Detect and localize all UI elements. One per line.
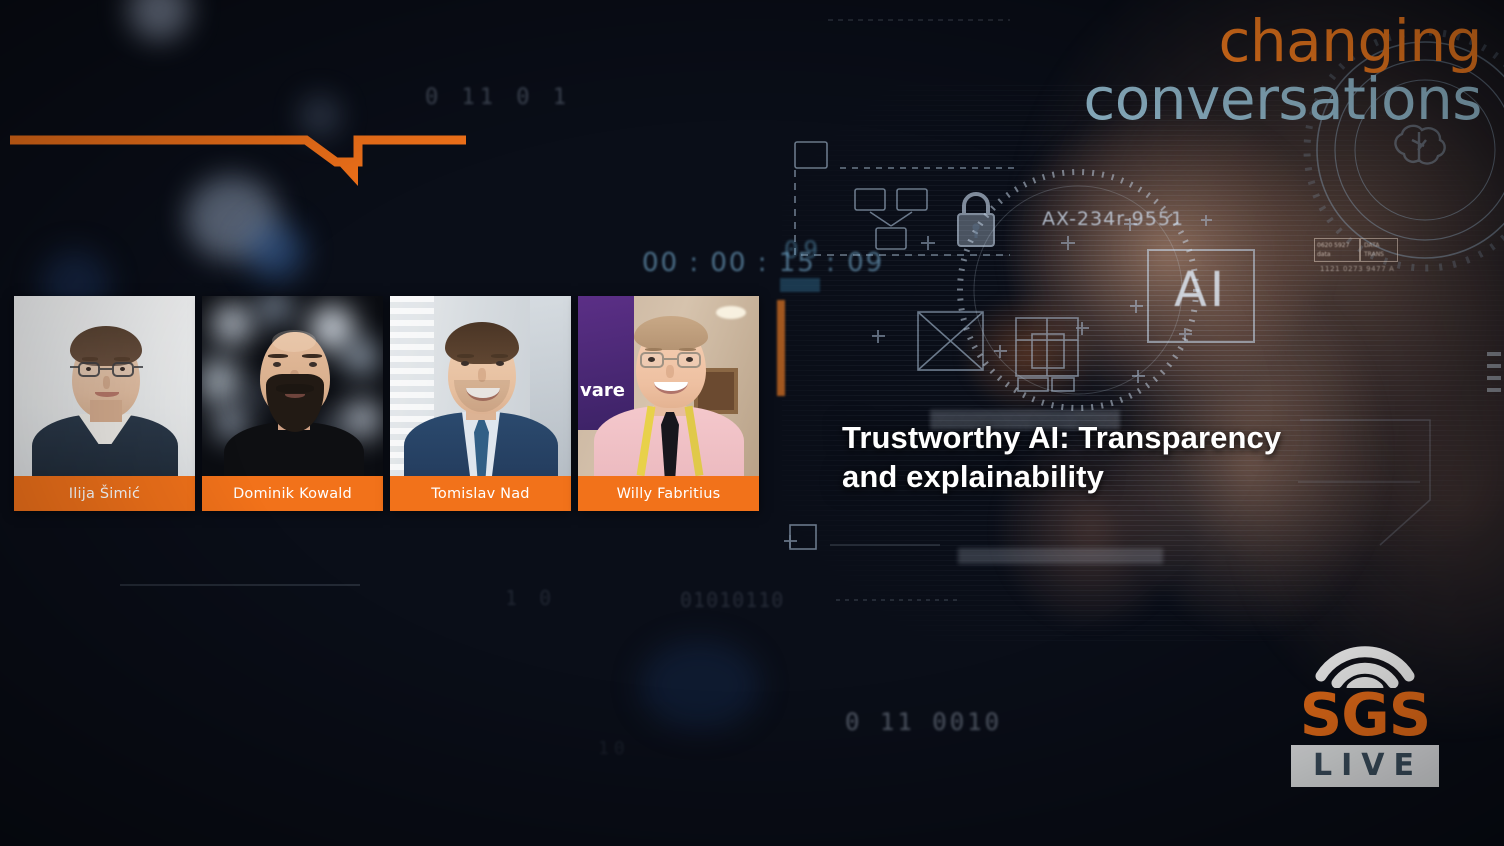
nose xyxy=(666,365,674,378)
banner-text-vare: vare xyxy=(580,380,625,401)
binary-text-small-left: 1 0 xyxy=(505,586,556,610)
ceiling-light xyxy=(716,306,746,319)
eye xyxy=(496,361,504,366)
logo-line-conversations: conversations xyxy=(1012,70,1482,128)
eyebrow xyxy=(268,354,288,358)
eye xyxy=(648,357,655,362)
hud-overlay-09: 09 xyxy=(784,236,823,264)
speaker-photo xyxy=(202,296,383,476)
eye xyxy=(309,362,317,367)
countdown-timer: 00 : 00 : 15 : 09 xyxy=(642,248,884,278)
lock-icon xyxy=(948,186,1004,256)
eyebrow xyxy=(82,357,98,361)
speaker-name-label: Willy Fabritius xyxy=(578,476,759,511)
binary-text-mid: 01010110 xyxy=(680,588,784,612)
presentation-slide: AX-234r-9551 AI 1121 0273 9477 A 0620 59… xyxy=(0,0,1504,846)
changing-conversations-logo: changing conversations xyxy=(1012,14,1482,128)
speaker-photo xyxy=(390,296,571,476)
bokeh-light xyxy=(344,340,378,374)
speaker-name-label: Tomislav Nad xyxy=(390,476,571,511)
eye xyxy=(120,367,125,371)
hud-ai-label: AI xyxy=(1174,262,1227,318)
eyebrow xyxy=(302,354,322,358)
slide-title-line2: and explainability xyxy=(842,457,1462,496)
eye xyxy=(461,361,469,366)
speaker-photo xyxy=(14,296,195,476)
hud-serial-label: 1121 0273 9477 A xyxy=(1320,265,1395,273)
binary-text-top: 0 11 0 1 xyxy=(425,85,571,110)
eyebrow xyxy=(114,357,130,361)
speaker-card-list: Ilija Šimić xyxy=(14,296,759,511)
eyeglass-temple xyxy=(70,366,79,368)
eye xyxy=(273,362,281,367)
sgs-live-logo: SGS LIVE xyxy=(1291,636,1439,787)
slide-title: Trustworthy AI: Transparency and explain… xyxy=(842,418,1462,496)
speech-bubble-underline xyxy=(6,128,470,194)
binary-text-low: 0 11 0010 xyxy=(845,708,1002,736)
bald-shine xyxy=(272,330,316,352)
eye xyxy=(686,357,693,362)
speaker-photo: vare xyxy=(578,296,759,476)
hud-data-box-left-text: 0620 5927 data xyxy=(1317,241,1349,259)
binary-text-tiny: 10 xyxy=(598,738,630,759)
speaker-card[interactable]: Tomislav Nad xyxy=(390,296,571,511)
hud-orange-strip xyxy=(777,300,785,396)
eyeglass-bridge xyxy=(100,368,112,370)
hud-white-strip xyxy=(958,548,1163,564)
speaker-card[interactable]: Dominik Kowald xyxy=(202,296,383,511)
purple-banner xyxy=(578,296,634,430)
hud-data-box-right-text: DATA TRANS xyxy=(1364,241,1384,259)
eyebrow xyxy=(457,354,474,358)
eyebrow xyxy=(645,348,662,351)
hud-teal-bar xyxy=(780,278,820,292)
moustache xyxy=(276,384,314,393)
hud-code-label: AX-234r-9551 xyxy=(1042,208,1184,230)
wifi-icon xyxy=(1291,636,1439,688)
speaker-name-label: Dominik Kowald xyxy=(202,476,383,511)
nose xyxy=(103,376,110,389)
eyeglass-bridge xyxy=(664,358,677,360)
eyebrow xyxy=(679,348,696,351)
sgs-live-text: LIVE xyxy=(1291,745,1439,787)
bokeh-light xyxy=(212,304,252,344)
eye xyxy=(86,367,91,371)
eyebrow xyxy=(491,354,508,358)
speaker-card[interactable]: Ilija Šimić xyxy=(14,296,195,511)
slide-title-line1: Trustworthy AI: Transparency xyxy=(842,418,1462,457)
logo-line-changing: changing xyxy=(1012,14,1482,70)
hair xyxy=(634,316,708,350)
speaker-name-label: Ilija Šimić xyxy=(14,476,195,511)
speaker-card[interactable]: vare Willy Fabritius xyxy=(578,296,759,511)
eyeglass-temple xyxy=(134,366,143,368)
neck xyxy=(90,400,122,422)
sgs-brand-text: SGS xyxy=(1291,688,1439,742)
